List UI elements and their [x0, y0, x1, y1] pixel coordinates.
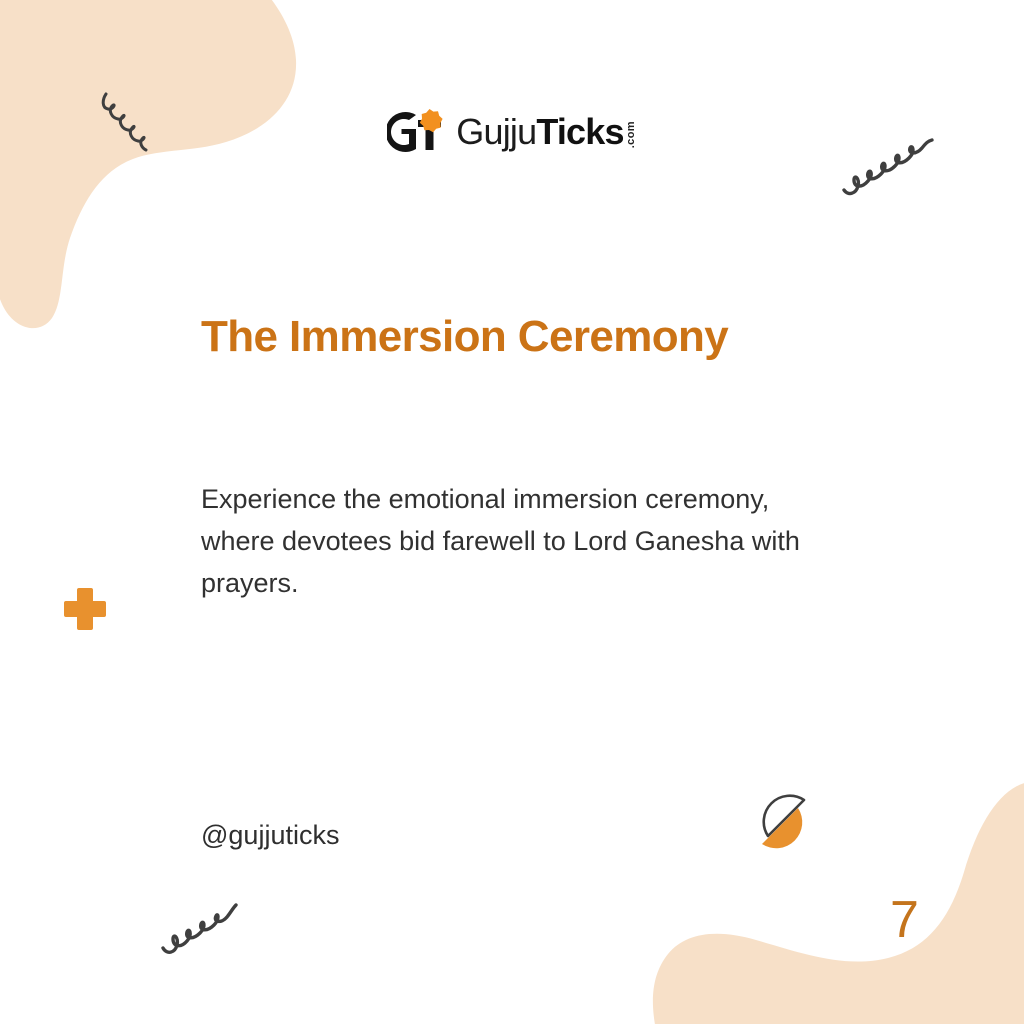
- wordmark-tld: .com: [626, 121, 637, 148]
- wordmark-ticks: Ticks: [536, 114, 623, 150]
- gt-monogram-icon: [387, 107, 445, 157]
- social-handle: @gujjuticks: [201, 820, 339, 851]
- squiggle-icon-bottom-left: [160, 898, 240, 958]
- decorative-blob-bottom-right: [648, 762, 1024, 1024]
- wordmark-gujju: Gujju: [456, 114, 536, 150]
- carousel-slide: Gujju Ticks .com The Immersion Ceremony …: [0, 0, 1024, 1024]
- body-text: Experience the emotional immersion cerem…: [201, 478, 811, 604]
- brand-logo: Gujju Ticks .com: [0, 104, 1024, 160]
- plus-icon: [62, 586, 108, 632]
- decorative-blob-top-left: [0, 0, 324, 335]
- brand-wordmark: Gujju Ticks .com: [456, 114, 636, 150]
- page-title: The Immersion Ceremony: [201, 312, 841, 361]
- page-number: 7: [890, 894, 919, 946]
- split-circle-icon: [752, 786, 824, 858]
